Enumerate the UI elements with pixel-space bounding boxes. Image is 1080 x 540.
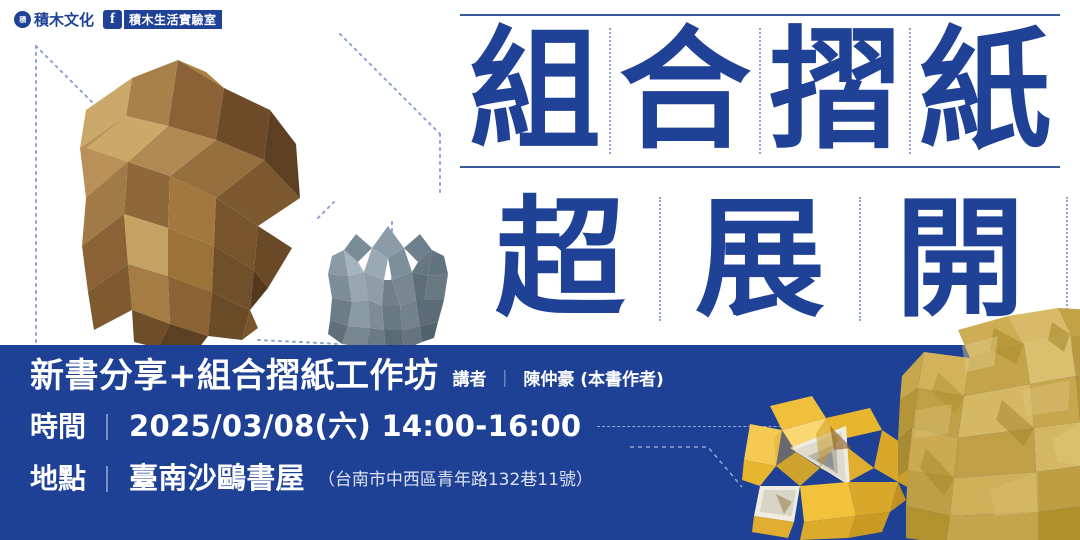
main-title-block: 組 合 摺 紙 超 展 開 xyxy=(460,14,1060,334)
time-label: 時間 xyxy=(30,413,86,441)
title-char: 超 xyxy=(460,194,660,324)
poster-root: 積 積木文化 f 積木生活實驗室 xyxy=(0,0,1080,540)
speaker-name: 陳仲豪 (本書作者) xyxy=(523,370,663,390)
time-value: 2025/03/08(六) 14:00-16:00 xyxy=(129,412,581,441)
publisher-mark-icon: 積 xyxy=(14,11,31,28)
speaker-separator: ｜ xyxy=(496,370,513,390)
location-address: （台南市中西區青年路132巷11號） xyxy=(318,465,593,492)
workshop-title: 新書分享+組合摺紙工作坊 xyxy=(30,359,439,393)
speaker-label: 講者 xyxy=(453,370,487,390)
location-value: 臺南沙鷗書屋 xyxy=(129,464,305,493)
facebook-page-logo[interactable]: f 積木生活實驗室 xyxy=(103,10,222,29)
publisher-name: 積木文化 xyxy=(34,9,94,30)
publisher-logo: 積 積木文化 xyxy=(14,9,94,30)
title-char: 展 xyxy=(660,194,860,324)
gold-modular-origami-photo xyxy=(898,300,1080,540)
title-char: 摺 xyxy=(760,25,910,157)
bronze-modular-origami-photo xyxy=(28,48,328,348)
facebook-page-name: 積木生活實驗室 xyxy=(124,10,222,29)
facebook-icon: f xyxy=(103,10,122,29)
title-char: 紙 xyxy=(910,25,1060,157)
title-char: 合 xyxy=(610,25,760,157)
steel-blue-spiky-origami-photo xyxy=(318,222,458,354)
yellow-white-triangle-origami-photo xyxy=(730,390,920,540)
speaker-info: 講者 ｜ 陳仲豪 (本書作者) xyxy=(453,372,664,393)
location-separator: ｜ xyxy=(94,460,120,497)
location-label: 地點 xyxy=(30,465,86,493)
logo-bar: 積 積木文化 f 積木生活實驗室 xyxy=(14,9,222,30)
time-separator: ｜ xyxy=(94,408,120,445)
title-line-1: 組 合 摺 紙 xyxy=(460,18,1060,164)
title-char: 組 xyxy=(460,25,610,157)
